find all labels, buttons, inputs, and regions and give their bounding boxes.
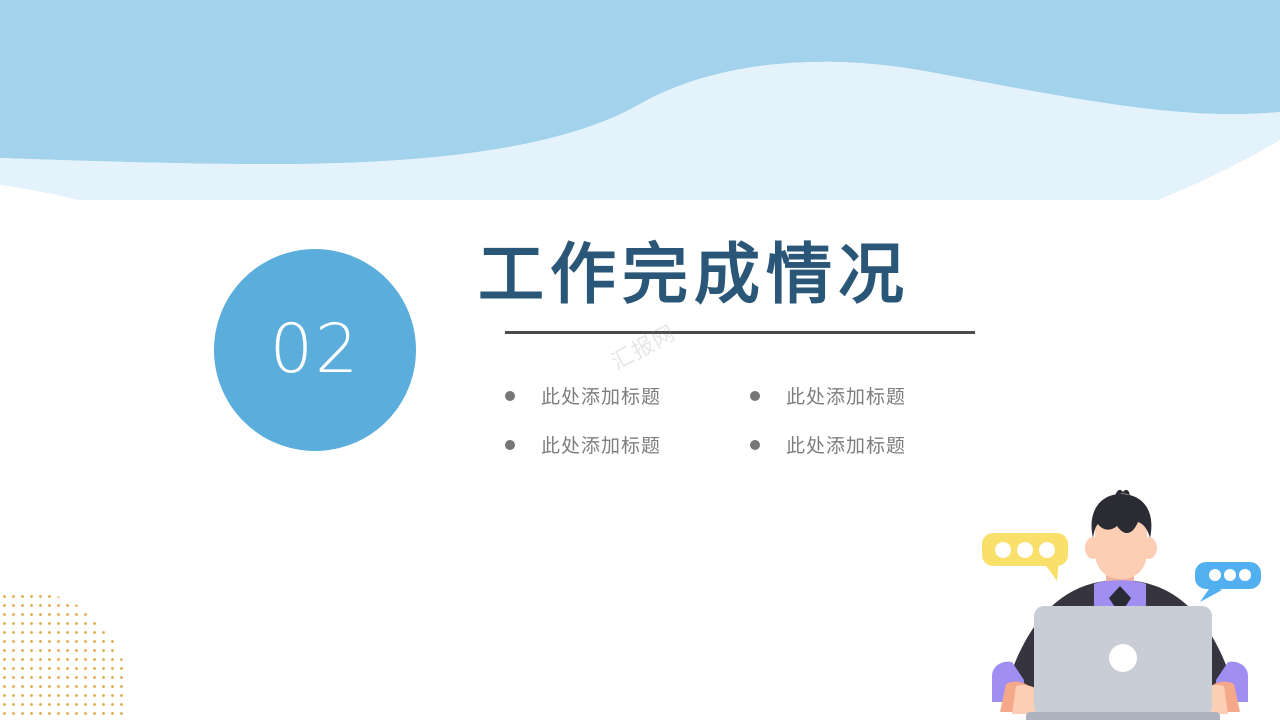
list-item: 此处添加标题	[750, 431, 995, 458]
list-item: 此处添加标题	[505, 382, 750, 409]
section-number: 02	[270, 316, 361, 384]
list-item: 此处添加标题	[750, 382, 995, 409]
top-wave-decoration	[0, 0, 1280, 200]
title-divider	[505, 331, 975, 334]
page-title: 工作完成情况	[478, 240, 1038, 309]
bullet-label: 此处添加标题	[786, 431, 906, 458]
person-at-laptop-illustration	[960, 480, 1280, 720]
dotted-circle-decoration	[0, 592, 128, 720]
wave-light-shape	[0, 62, 1280, 200]
bullet-dot-icon	[505, 391, 515, 401]
laptop-base	[1026, 712, 1220, 720]
section-number-badge: 02	[214, 249, 416, 451]
list-item: 此处添加标题	[505, 431, 750, 458]
bullet-label: 此处添加标题	[541, 382, 661, 409]
wave-dark-shape	[0, 0, 1280, 164]
blue-speech-bubble-icon	[1195, 562, 1261, 602]
laptop-logo-icon	[1109, 644, 1137, 672]
bullet-label: 此处添加标题	[541, 431, 661, 458]
title-block: 工作完成情况	[478, 240, 1038, 334]
bullet-dot-icon	[750, 391, 760, 401]
bullet-dot-icon	[505, 440, 515, 450]
bullet-dot-icon	[750, 440, 760, 450]
bullet-label: 此处添加标题	[786, 382, 906, 409]
yellow-speech-bubble-icon	[982, 533, 1068, 581]
bullet-list: 此处添加标题 此处添加标题 此处添加标题 此处添加标题	[505, 382, 995, 458]
slide-canvas: 02 工作完成情况 汇报网 此处添加标题 此处添加标题 此处添加标题 此处添加标…	[0, 0, 1280, 720]
